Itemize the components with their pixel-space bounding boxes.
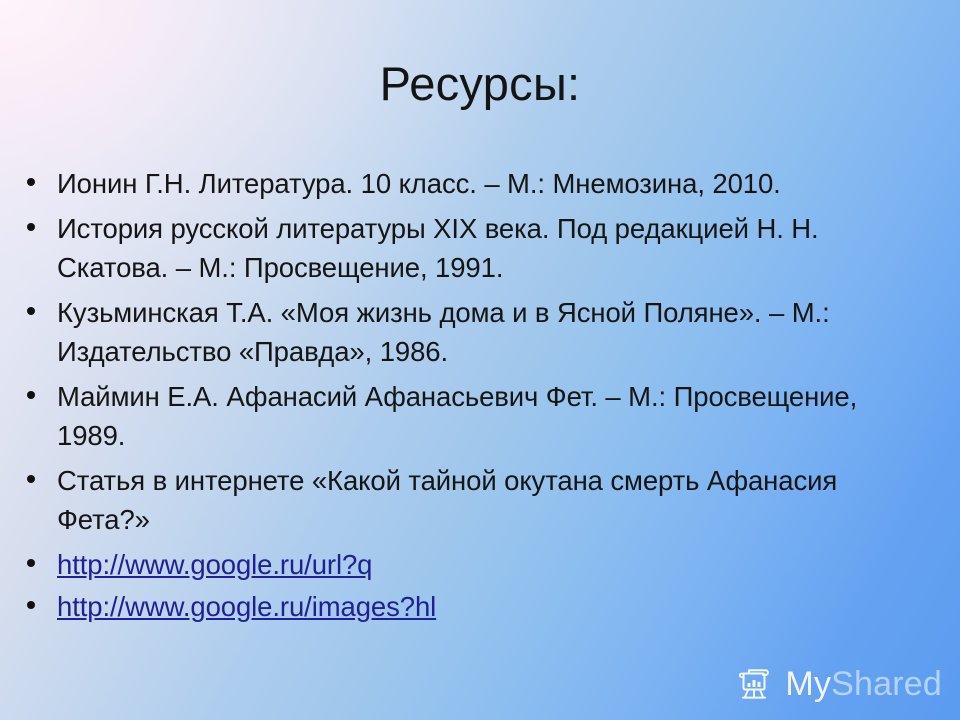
bullet-dot-icon (27, 601, 35, 609)
list-item-link[interactable]: http://www.google.ru/url?q (22, 545, 927, 584)
list-item: История русской литературы XIX века. Под… (22, 209, 927, 287)
watermark-shared: Shared (831, 665, 942, 703)
myshared-watermark: MyShared (736, 664, 942, 704)
list-item: Статья в интернете «Какой тайной окутана… (22, 461, 927, 539)
flipchart-chart-icon (736, 664, 776, 704)
bullet-dot-icon (27, 307, 35, 315)
list-item-text: Маймин Е.А. Афанасий Афанасьевич Фет. – … (57, 381, 857, 451)
bullet-dot-icon (27, 391, 35, 399)
list-item: Маймин Е.А. Афанасий Афанасьевич Фет. – … (22, 377, 927, 455)
list-item: Ионин Г.Н. Литература. 10 класс. – М.: М… (22, 164, 927, 203)
presentation-slide: Ресурсы: Ионин Г.Н. Литература. 10 класс… (0, 0, 960, 720)
watermark-my: My (785, 665, 831, 703)
resources-list: Ионин Г.Н. Литература. 10 класс. – М.: М… (22, 164, 927, 629)
bullet-dot-icon (27, 178, 35, 186)
bullet-dot-icon (27, 559, 35, 567)
list-item: Кузьминская Т.А. «Моя жизнь дома и в Ясн… (22, 293, 927, 371)
bullet-dot-icon (27, 223, 35, 231)
list-item-text: Кузьминская Т.А. «Моя жизнь дома и в Ясн… (57, 297, 830, 367)
hyperlink-google-url[interactable]: http://www.google.ru/url?q (57, 549, 372, 580)
list-item-text: История русской литературы XIX века. Под… (57, 213, 819, 283)
list-item-text: Ионин Г.Н. Литература. 10 класс. – М.: М… (57, 168, 781, 199)
page-title: Ресурсы: (0, 57, 960, 111)
watermark-label: MyShared (785, 667, 942, 701)
list-item-text: Статья в интернете «Какой тайной окутана… (57, 465, 837, 535)
list-item-link[interactable]: http://www.google.ru/images?hl (22, 587, 927, 626)
bullet-dot-icon (27, 475, 35, 483)
hyperlink-google-images[interactable]: http://www.google.ru/images?hl (57, 591, 436, 622)
